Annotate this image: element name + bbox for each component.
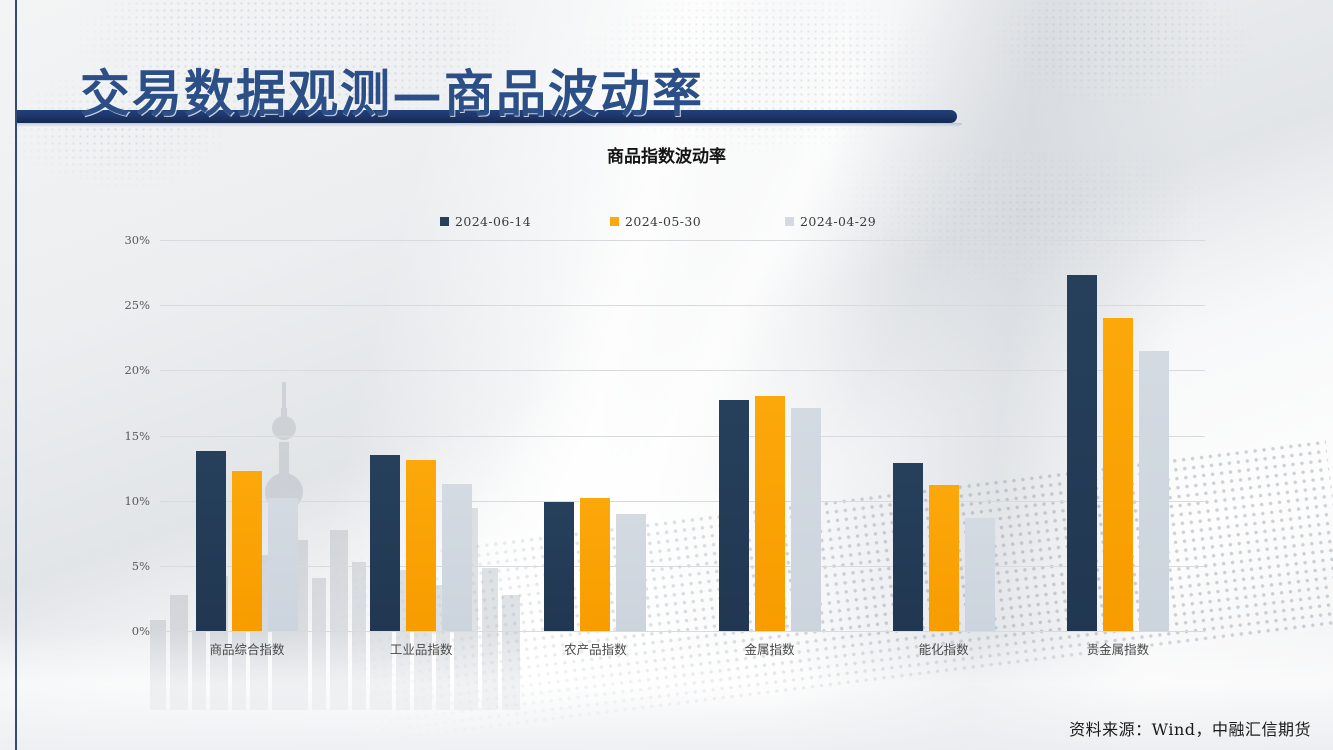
y-axis-tick-label: 20% [124,363,150,377]
bar-2-1 [442,484,472,631]
legend-item-2024-05-30[interactable]: 2024-05-30 [610,214,785,229]
bar-1-4 [929,485,959,631]
chart-bars [160,240,1205,631]
chart-legend: 2024-06-14 2024-05-30 2024-04-29 [440,212,900,230]
bar-2-2 [616,514,646,631]
chart-title: 商品指数波动率 [0,142,1333,167]
bar-2-3 [791,408,821,631]
legend-swatch-series-2 [785,217,794,226]
bar-1-2 [580,498,610,631]
legend-swatch-series-1 [610,217,619,226]
x-axis-label: 农产品指数 [564,639,627,658]
bar-0-1 [370,455,400,631]
bar-1-5 [1103,318,1133,631]
page-title: 交易数据观测—商品波动率 [80,62,704,126]
x-axis-label: 商品综合指数 [209,639,284,658]
y-axis-tick-label: 25% [124,298,150,312]
source-note: 资料来源：Wind，中融汇信期货 [1069,716,1311,740]
y-axis-tick-label: 15% [124,429,150,443]
bar-0-4 [893,463,923,631]
bar-0-5 [1067,275,1097,631]
legend-label-series-1: 2024-05-30 [625,214,701,229]
slide-background: 交易数据观测—商品波动率 商品指数波动率 2024-06-14 2024-05-… [0,0,1333,750]
bar-2-0 [268,498,298,631]
commodity-volatility-chart: 商品指数波动率 2024-06-14 2024-05-30 2024-04-29… [0,130,1333,670]
bar-1-0 [232,471,262,631]
x-axis-label: 能化指数 [919,639,969,658]
bar-0-0 [196,451,226,631]
y-axis-tick-label: 30% [124,233,150,247]
legend-label-series-2: 2024-04-29 [800,214,876,229]
legend-label-series-0: 2024-06-14 [455,214,531,229]
bar-1-1 [406,460,436,631]
y-axis-tick-label: 0% [132,624,150,638]
bar-2-4 [965,518,995,631]
bar-2-5 [1139,351,1169,631]
x-axis-label: 工业品指数 [390,639,453,658]
y-axis-tick-label: 5% [132,559,150,573]
y-axis-tick-label: 10% [124,494,150,508]
legend-item-2024-04-29[interactable]: 2024-04-29 [785,214,876,229]
x-axis-label: 金属指数 [744,639,794,658]
legend-item-2024-06-14[interactable]: 2024-06-14 [440,214,610,229]
gridline [160,631,1205,632]
bar-0-3 [719,400,749,631]
x-axis-label: 贵金属指数 [1087,639,1150,658]
chart-plot-area: 0%5%10%15%20%25%30% 商品综合指数工业品指数农产品指数金属指数… [160,240,1205,631]
legend-swatch-series-0 [440,217,449,226]
bar-1-3 [755,396,785,631]
bar-0-2 [544,502,574,631]
